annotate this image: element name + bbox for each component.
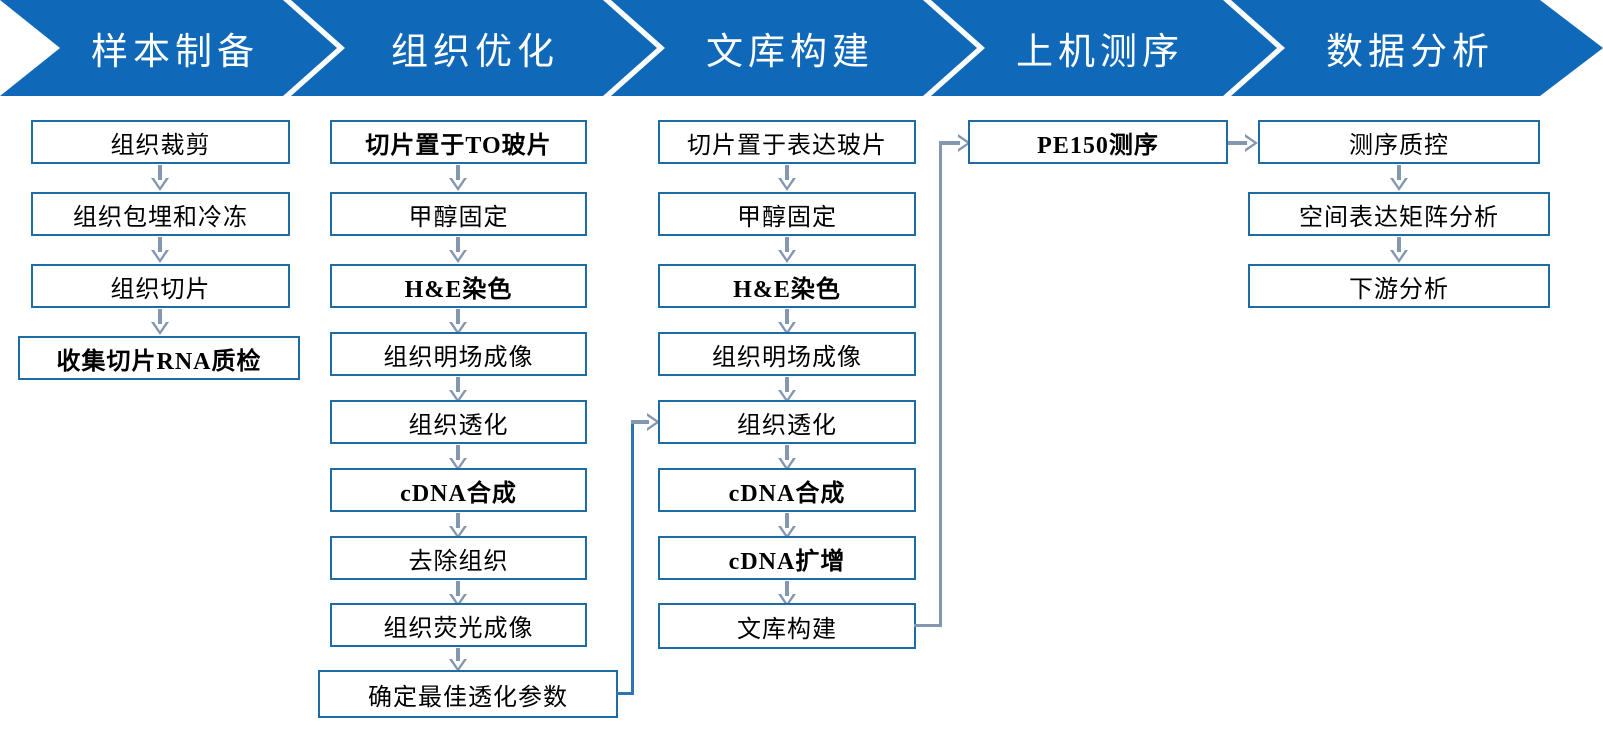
connector-library-v <box>939 143 942 627</box>
step-pe150-sequencing[interactable]: PE150测序 <box>968 120 1228 164</box>
arrow-down-c3-2 <box>778 237 796 263</box>
arrow-down-c3-1 <box>778 165 796 191</box>
step-brightfield-imaging-opt[interactable]: 组织明场成像 <box>330 332 587 376</box>
step-spatial-expression-matrix[interactable]: 空间表达矩阵分析 <box>1248 192 1550 236</box>
arrow-down-c1-1 <box>151 165 169 191</box>
arrow-down-c2-2 <box>449 237 467 263</box>
arrow-right-seq-to-qc <box>1228 134 1258 152</box>
connector-feedback-arrow <box>631 413 660 431</box>
step-sequencing-qc[interactable]: 测序质控 <box>1258 120 1540 164</box>
step-methanol-fixation-opt[interactable]: 甲醇固定 <box>330 192 587 236</box>
arrow-down-c5-1 <box>1390 165 1408 191</box>
step-cdna-synthesis-opt[interactable]: cDNA合成 <box>330 468 587 512</box>
banner-stage-library-construction: 文库构建 <box>665 0 915 96</box>
banner-stage-data-analysis: 数据分析 <box>1285 0 1535 96</box>
arrow-down-c1-3 <box>151 309 169 335</box>
step-tissue-removal[interactable]: 去除组织 <box>330 536 587 580</box>
step-permeabilization-lib[interactable]: 组织透化 <box>658 400 916 444</box>
step-methanol-fixation-lib[interactable]: 甲醇固定 <box>658 192 916 236</box>
step-section-on-to-slide[interactable]: 切片置于TO玻片 <box>330 120 587 164</box>
step-he-staining-lib[interactable]: H&E染色 <box>658 264 916 308</box>
arrow-down-c2-1 <box>449 165 467 191</box>
process-banner: 样本制备 组织优化 文库构建 上机测序 数据分析 <box>0 0 1603 96</box>
step-brightfield-imaging-lib[interactable]: 组织明场成像 <box>658 332 916 376</box>
arrow-down-c5-2 <box>1390 237 1408 263</box>
step-fluorescence-imaging[interactable]: 组织荧光成像 <box>330 603 587 647</box>
banner-stage-sample-prep: 样本制备 <box>60 0 290 96</box>
connector-library-arrow <box>939 134 971 152</box>
step-library-construction[interactable]: 文库构建 <box>658 603 916 649</box>
step-he-staining-opt[interactable]: H&E染色 <box>330 264 587 308</box>
step-downstream-analysis[interactable]: 下游分析 <box>1248 264 1550 308</box>
step-embedding-freezing[interactable]: 组织包埋和冷冻 <box>31 192 290 236</box>
step-tissue-trimming[interactable]: 组织裁剪 <box>31 120 290 164</box>
step-sectioning[interactable]: 组织切片 <box>31 264 290 308</box>
banner-stage-sequencing: 上机测序 <box>985 0 1215 96</box>
step-optimal-permeabilization-params[interactable]: 确定最佳透化参数 <box>318 670 618 718</box>
step-section-on-expression-slide[interactable]: 切片置于表达玻片 <box>658 120 916 164</box>
connector-library-h1 <box>914 624 942 627</box>
step-cdna-synthesis-lib[interactable]: cDNA合成 <box>658 468 916 512</box>
step-cdna-amplification[interactable]: cDNA扩增 <box>658 536 916 580</box>
banner-stage-tissue-optimization: 组织优化 <box>350 0 600 96</box>
arrow-down-c2-8 <box>449 648 467 672</box>
connector-feedback-v <box>631 422 634 694</box>
step-permeabilization-opt[interactable]: 组织透化 <box>330 400 587 444</box>
arrow-down-c1-2 <box>151 237 169 263</box>
step-rna-qc[interactable]: 收集切片RNA质检 <box>18 336 300 380</box>
